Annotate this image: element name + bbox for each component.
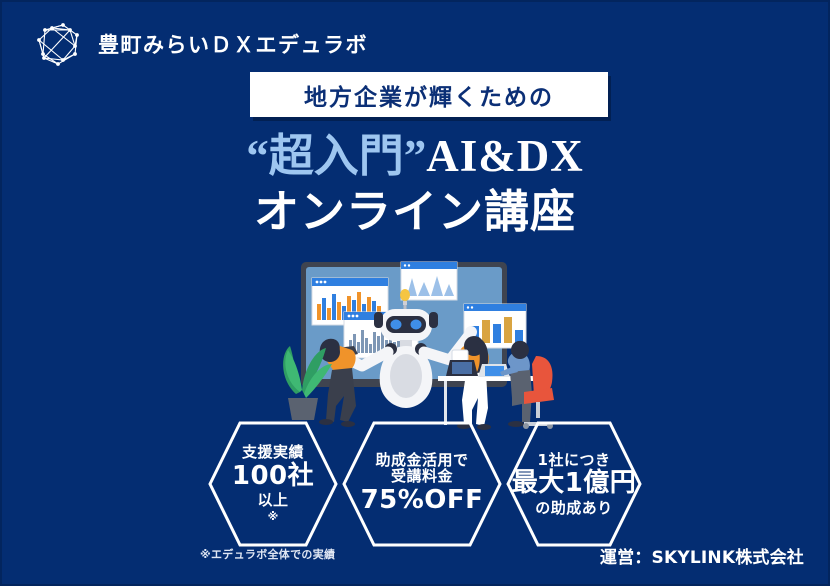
operator-text: 運営：SKYLINK株式会社: [600, 543, 804, 568]
footnote-text: ※エデュラボ全体での実績: [200, 546, 335, 562]
badge-subsidy-discount: 助成金活用で 受講料金 75%OFF: [341, 420, 503, 548]
brand-name: 豊町みらいＤＸエデュラボ: [98, 29, 368, 59]
title-line-2: オンライン講座: [2, 186, 828, 238]
brand-header: 豊町みらいＤＸエデュラボ: [30, 16, 368, 72]
badge-support-record: 支援実績 100社 以上 ※: [207, 420, 339, 548]
page-title: “超入門”AI&DX オンライン講座: [2, 130, 828, 238]
title-highlight: “超入門”: [246, 131, 426, 181]
badge-row: 支援実績 100社 以上 ※ 助成金活用で 受講料金 75%OFF 1社につき: [2, 420, 828, 550]
sub-banner: 地方企業が輝くための: [250, 72, 608, 117]
title-line-1: “超入門”AI&DX: [2, 130, 828, 182]
badge-max-subsidy: 1社につき 最大1億円 の助成あり: [505, 420, 643, 548]
poster-canvas: 豊町みらいＤＸエデュラボ 地方企業が輝くための “超入門”AI&DX オンライン…: [0, 0, 830, 586]
polygon-network-icon: [30, 16, 86, 72]
ai-robot-presentation-illustration: [274, 254, 574, 432]
title-rest: AI&DX: [426, 131, 584, 181]
sub-banner-text: 地方企業が輝くための: [304, 78, 554, 112]
